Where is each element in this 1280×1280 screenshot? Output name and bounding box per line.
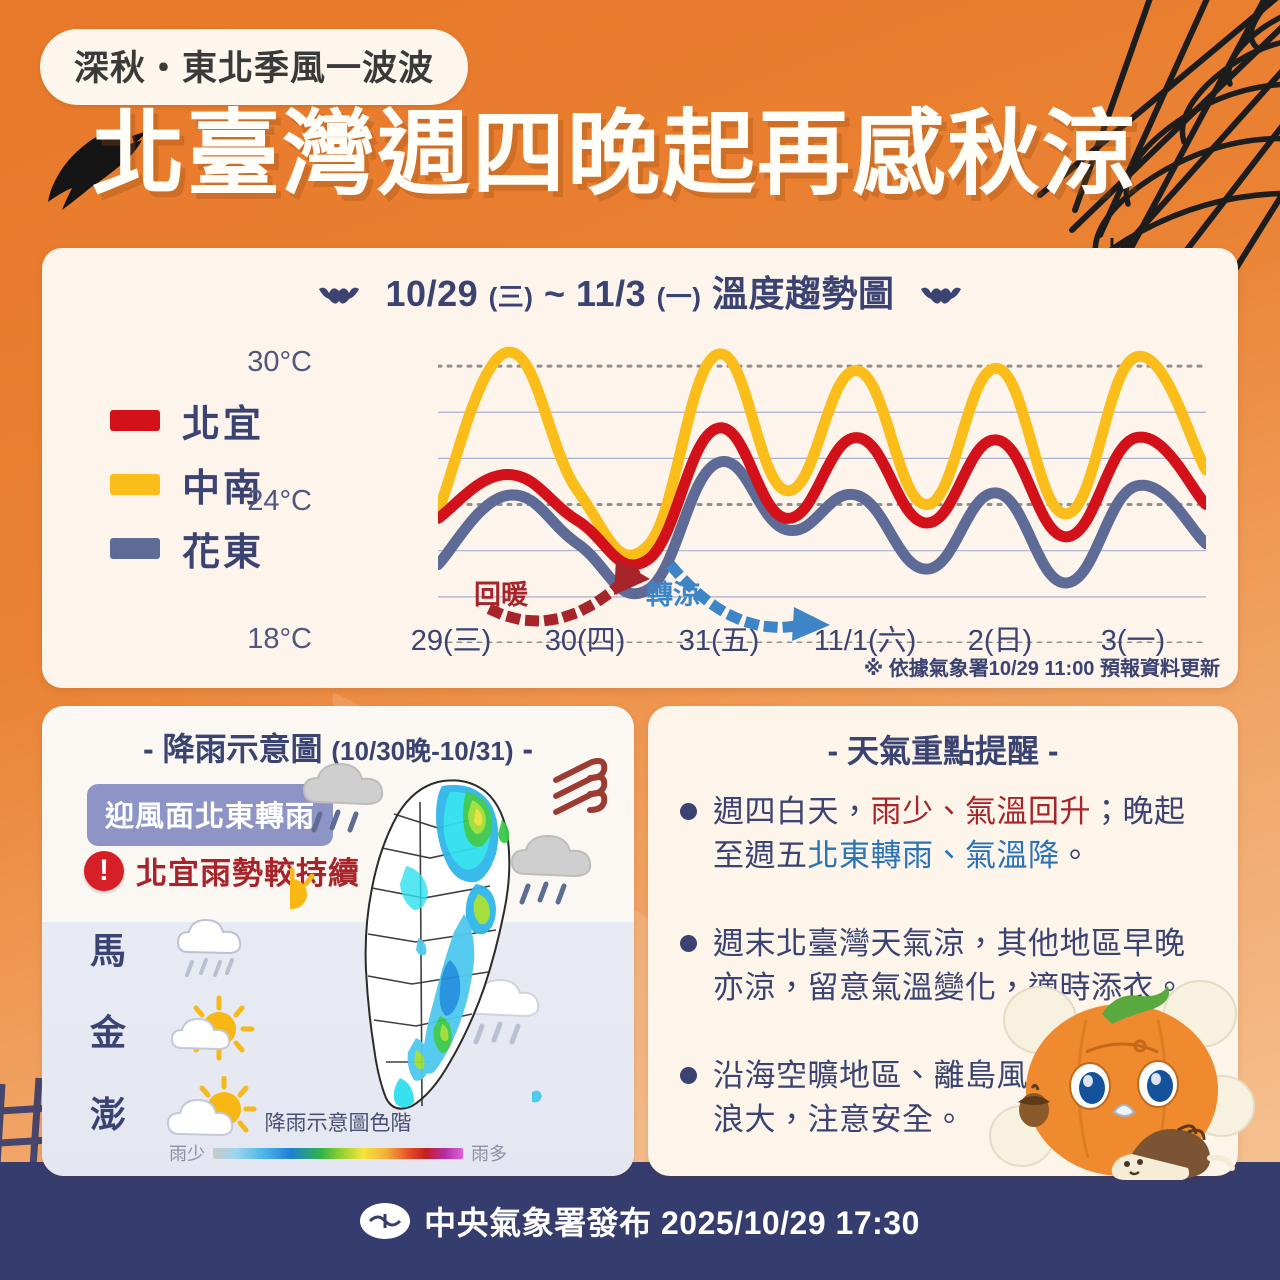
island-label-kinmen: 金 <box>90 1004 164 1056</box>
page-title: 北臺灣週四晚起再感秋涼 <box>92 106 1137 204</box>
y-tick-24: 24°C <box>192 485 312 518</box>
island-row-kinmen: 金 <box>90 994 260 1066</box>
colorbar-gradient <box>213 1148 463 1159</box>
chart-title-tail: 溫度趨勢圖 <box>712 273 895 314</box>
legend-swatch-beiyi <box>110 410 160 431</box>
green-island-dot <box>532 1091 542 1103</box>
rain-cloud-icon <box>304 764 382 830</box>
legend-label-beiyi: 北宜 <box>182 393 264 448</box>
bullet-icon <box>680 935 697 952</box>
chart-title-date-end: ~ 11/3 <box>544 273 646 314</box>
chart-title-day-end: (一) <box>657 282 702 312</box>
footer-text: 中央氣象署發布 2025/10/29 17:30 <box>424 1198 920 1244</box>
sun-behind-cloud-icon <box>290 870 312 909</box>
colorbar-title: 降雨示意圖色階 <box>42 1107 634 1137</box>
cwa-logo-icon <box>360 1203 410 1239</box>
x-tick-1: 30(四) <box>530 617 640 659</box>
tip-item-1: 週四白天，雨少、氣溫回升；晚起至週五北東轉雨、氣溫降。 <box>680 790 1213 878</box>
legend-swatch-zhongnan <box>110 474 160 495</box>
rain-cloud-icon <box>512 836 590 902</box>
x-tick-4: 2(日) <box>945 617 1055 659</box>
annotation-warming: 回暖 <box>474 573 528 612</box>
exclamation-icon: ! <box>84 851 124 891</box>
tips-panel-title: - 天氣重點提醒 - <box>648 726 1238 772</box>
x-tick-2: 31(五) <box>664 617 774 659</box>
island-label-matsu: 馬 <box>90 922 164 974</box>
bullet-icon <box>680 803 697 820</box>
tip-segment: 雨少、氣溫回升 <box>871 794 1092 829</box>
x-tick-3: 11/1(六) <box>790 617 940 659</box>
bullet-icon <box>680 1067 697 1084</box>
legend-item-huadong: 花東 <box>110 516 340 580</box>
y-tick-30: 30°C <box>192 346 312 379</box>
legend-item-beiyi: 北宜 <box>110 388 340 452</box>
temperature-chart-card: 10/29 (三) ~ 11/3 (一) 溫度趨勢圖 北宜 中南 花東 30°C… <box>42 248 1238 688</box>
sun-behind-cloud-icon <box>164 994 260 1066</box>
tip-segment: 北東轉雨、氣溫降 <box>808 838 1060 873</box>
island-row-matsu: 馬 <box>90 912 260 984</box>
legend-swatch-huadong <box>110 538 160 559</box>
rainfall-panel: - 降雨示意圖 (10/30晚-10/31) - 迎風面北東轉雨 ! 北宜雨勢較… <box>42 706 634 1176</box>
x-tick-0: 29(三) <box>396 617 506 659</box>
y-tick-18: 18°C <box>192 623 312 656</box>
rain-cloud-icon <box>164 912 260 984</box>
chart-svg <box>438 343 1206 643</box>
chart-title: 10/29 (三) ~ 11/3 (一) 溫度趨勢圖 <box>42 265 1238 317</box>
bat-icon <box>317 283 361 309</box>
legend-label-huadong: 花東 <box>182 521 264 576</box>
tip-segment: 週四白天， <box>713 794 871 829</box>
bat-icon <box>919 283 963 309</box>
footer-bar: 中央氣象署發布 2025/10/29 17:30 <box>0 1162 1280 1280</box>
chart-plot-area <box>438 343 1206 643</box>
x-tick-5: 3(一) <box>1078 617 1188 659</box>
taiwan-rainfall-map <box>290 762 620 1128</box>
pumpkin-mascot-icon <box>982 958 1272 1188</box>
tip-text-1: 週四白天，雨少、氣溫回升；晚起至週五北東轉雨、氣溫降。 <box>713 790 1213 878</box>
rainfall-colorbar: 降雨示意圖色階 雨少 雨多 <box>42 1107 634 1166</box>
tagline-pill: 深秋・東北季風一波波 <box>40 29 468 105</box>
tip-segment: 。 <box>1060 838 1092 873</box>
annotation-cooling: 轉涼 <box>646 573 700 612</box>
chart-title-day-start: (三) <box>489 282 534 312</box>
chart-title-date-start: 10/29 <box>386 273 479 314</box>
